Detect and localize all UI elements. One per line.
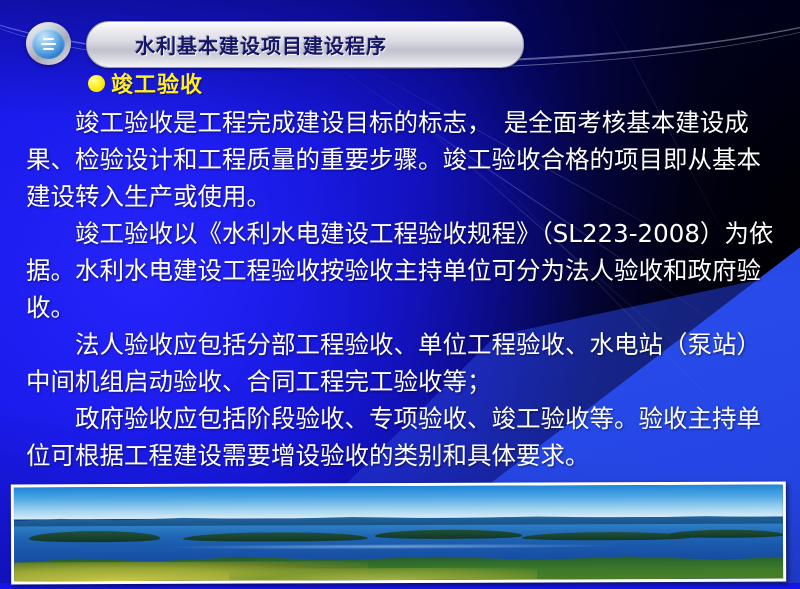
hamburger-icon-inner <box>32 28 65 59</box>
section-bullet: 竣工验收 <box>88 68 778 98</box>
body-paragraph-1: 竣工验收是工程完成建设目标的标志， 是全面考核基本建设成果、检验设计和工程质量的… <box>26 104 778 215</box>
body-paragraph-4: 政府验收应包括阶段验收、专项验收、竣工验收等。验收主持单位可根据工程建设需要增设… <box>26 400 778 474</box>
photo-frame <box>11 482 786 585</box>
page-title: 水利基本建设项目建设程序 <box>135 30 387 59</box>
title-pill: 水利基本建设项目建设程序 <box>86 21 524 68</box>
bullet-dot-icon <box>88 75 105 92</box>
photo-sky <box>14 485 783 520</box>
hamburger-bar <box>43 38 54 40</box>
hamburger-icon[interactable] <box>26 22 71 65</box>
slide-header: 水利基本建设项目建设程序 <box>26 21 522 66</box>
photo-foreground-brush <box>229 567 537 580</box>
photo-island <box>375 530 521 539</box>
section-heading: 竣工验收 <box>111 67 203 99</box>
hamburger-bar <box>41 43 56 45</box>
reservoir-panorama-photo <box>14 485 783 582</box>
hamburger-bar <box>43 48 54 50</box>
slide-content: 竣工验收 竣工验收是工程完成建设目标的标志， 是全面考核基本建设成果、检验设计和… <box>0 68 800 474</box>
body-paragraph-2: 竣工验收以《水利水电建设工程验收规程》（SL223-2008）为依据。水利水电建… <box>26 215 778 326</box>
photo-island <box>29 531 160 542</box>
photo-island <box>668 530 783 538</box>
body-paragraph-3: 法人验收应包括分部工程验收、单位工程验收、水电站（泵站）中间机组启动验收、合同工… <box>26 326 778 400</box>
slide-canvas: 水利基本建设项目建设程序 竣工验收 竣工验收是工程完成建设目标的标志， 是全面考… <box>0 0 800 589</box>
